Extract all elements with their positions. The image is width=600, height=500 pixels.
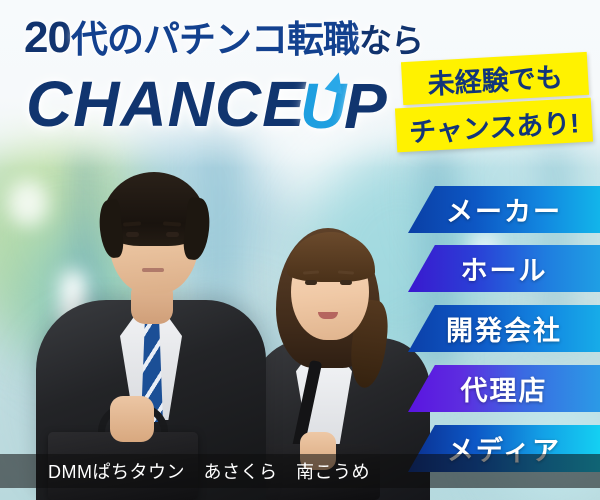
caption-bar: DMMぱちタウン あさくら 南こうめ [0, 454, 600, 488]
headline-tail: なら [359, 22, 423, 59]
logo-up-p: P [344, 74, 387, 138]
category-bar-maker[interactable]: メーカー [408, 186, 600, 233]
category-bar-agency[interactable]: 代理店 [408, 365, 600, 412]
headline: 20代のパチンコ転職なら [24, 16, 444, 60]
headline-middle: 代のパチンコ転職 [71, 19, 359, 60]
headline-number: 20 [24, 13, 71, 62]
logo-chance-text: CHANCE [26, 72, 306, 136]
logo-up: U P [300, 70, 410, 144]
category-bar-hall[interactable]: ホール [408, 245, 600, 292]
banner-ad[interactable]: 20代のパチンコ転職なら CHANCE U P 未経験でも チャンスあり! メー… [0, 0, 600, 500]
category-bar-developer[interactable]: 開発会社 [408, 305, 600, 352]
caption-text: DMMぱちタウン あさくら 南こうめ [0, 458, 370, 484]
